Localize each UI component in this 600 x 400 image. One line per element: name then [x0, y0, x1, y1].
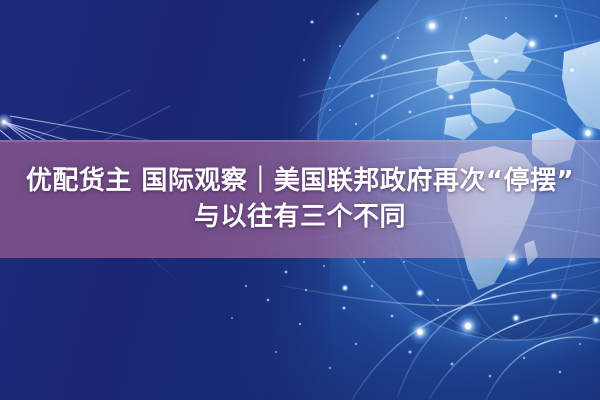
headline-line-2: 与以往有三个不同 [194, 202, 406, 232]
banner-image: 优配货主 国际观察｜美国联邦政府再次“停摆” 与以往有三个不同 [0, 0, 600, 400]
headline-block: 优配货主 国际观察｜美国联邦政府再次“停摆” 与以往有三个不同 [0, 140, 600, 258]
headline-line-1: 优配货主 国际观察｜美国联邦政府再次“停摆” [26, 166, 574, 196]
